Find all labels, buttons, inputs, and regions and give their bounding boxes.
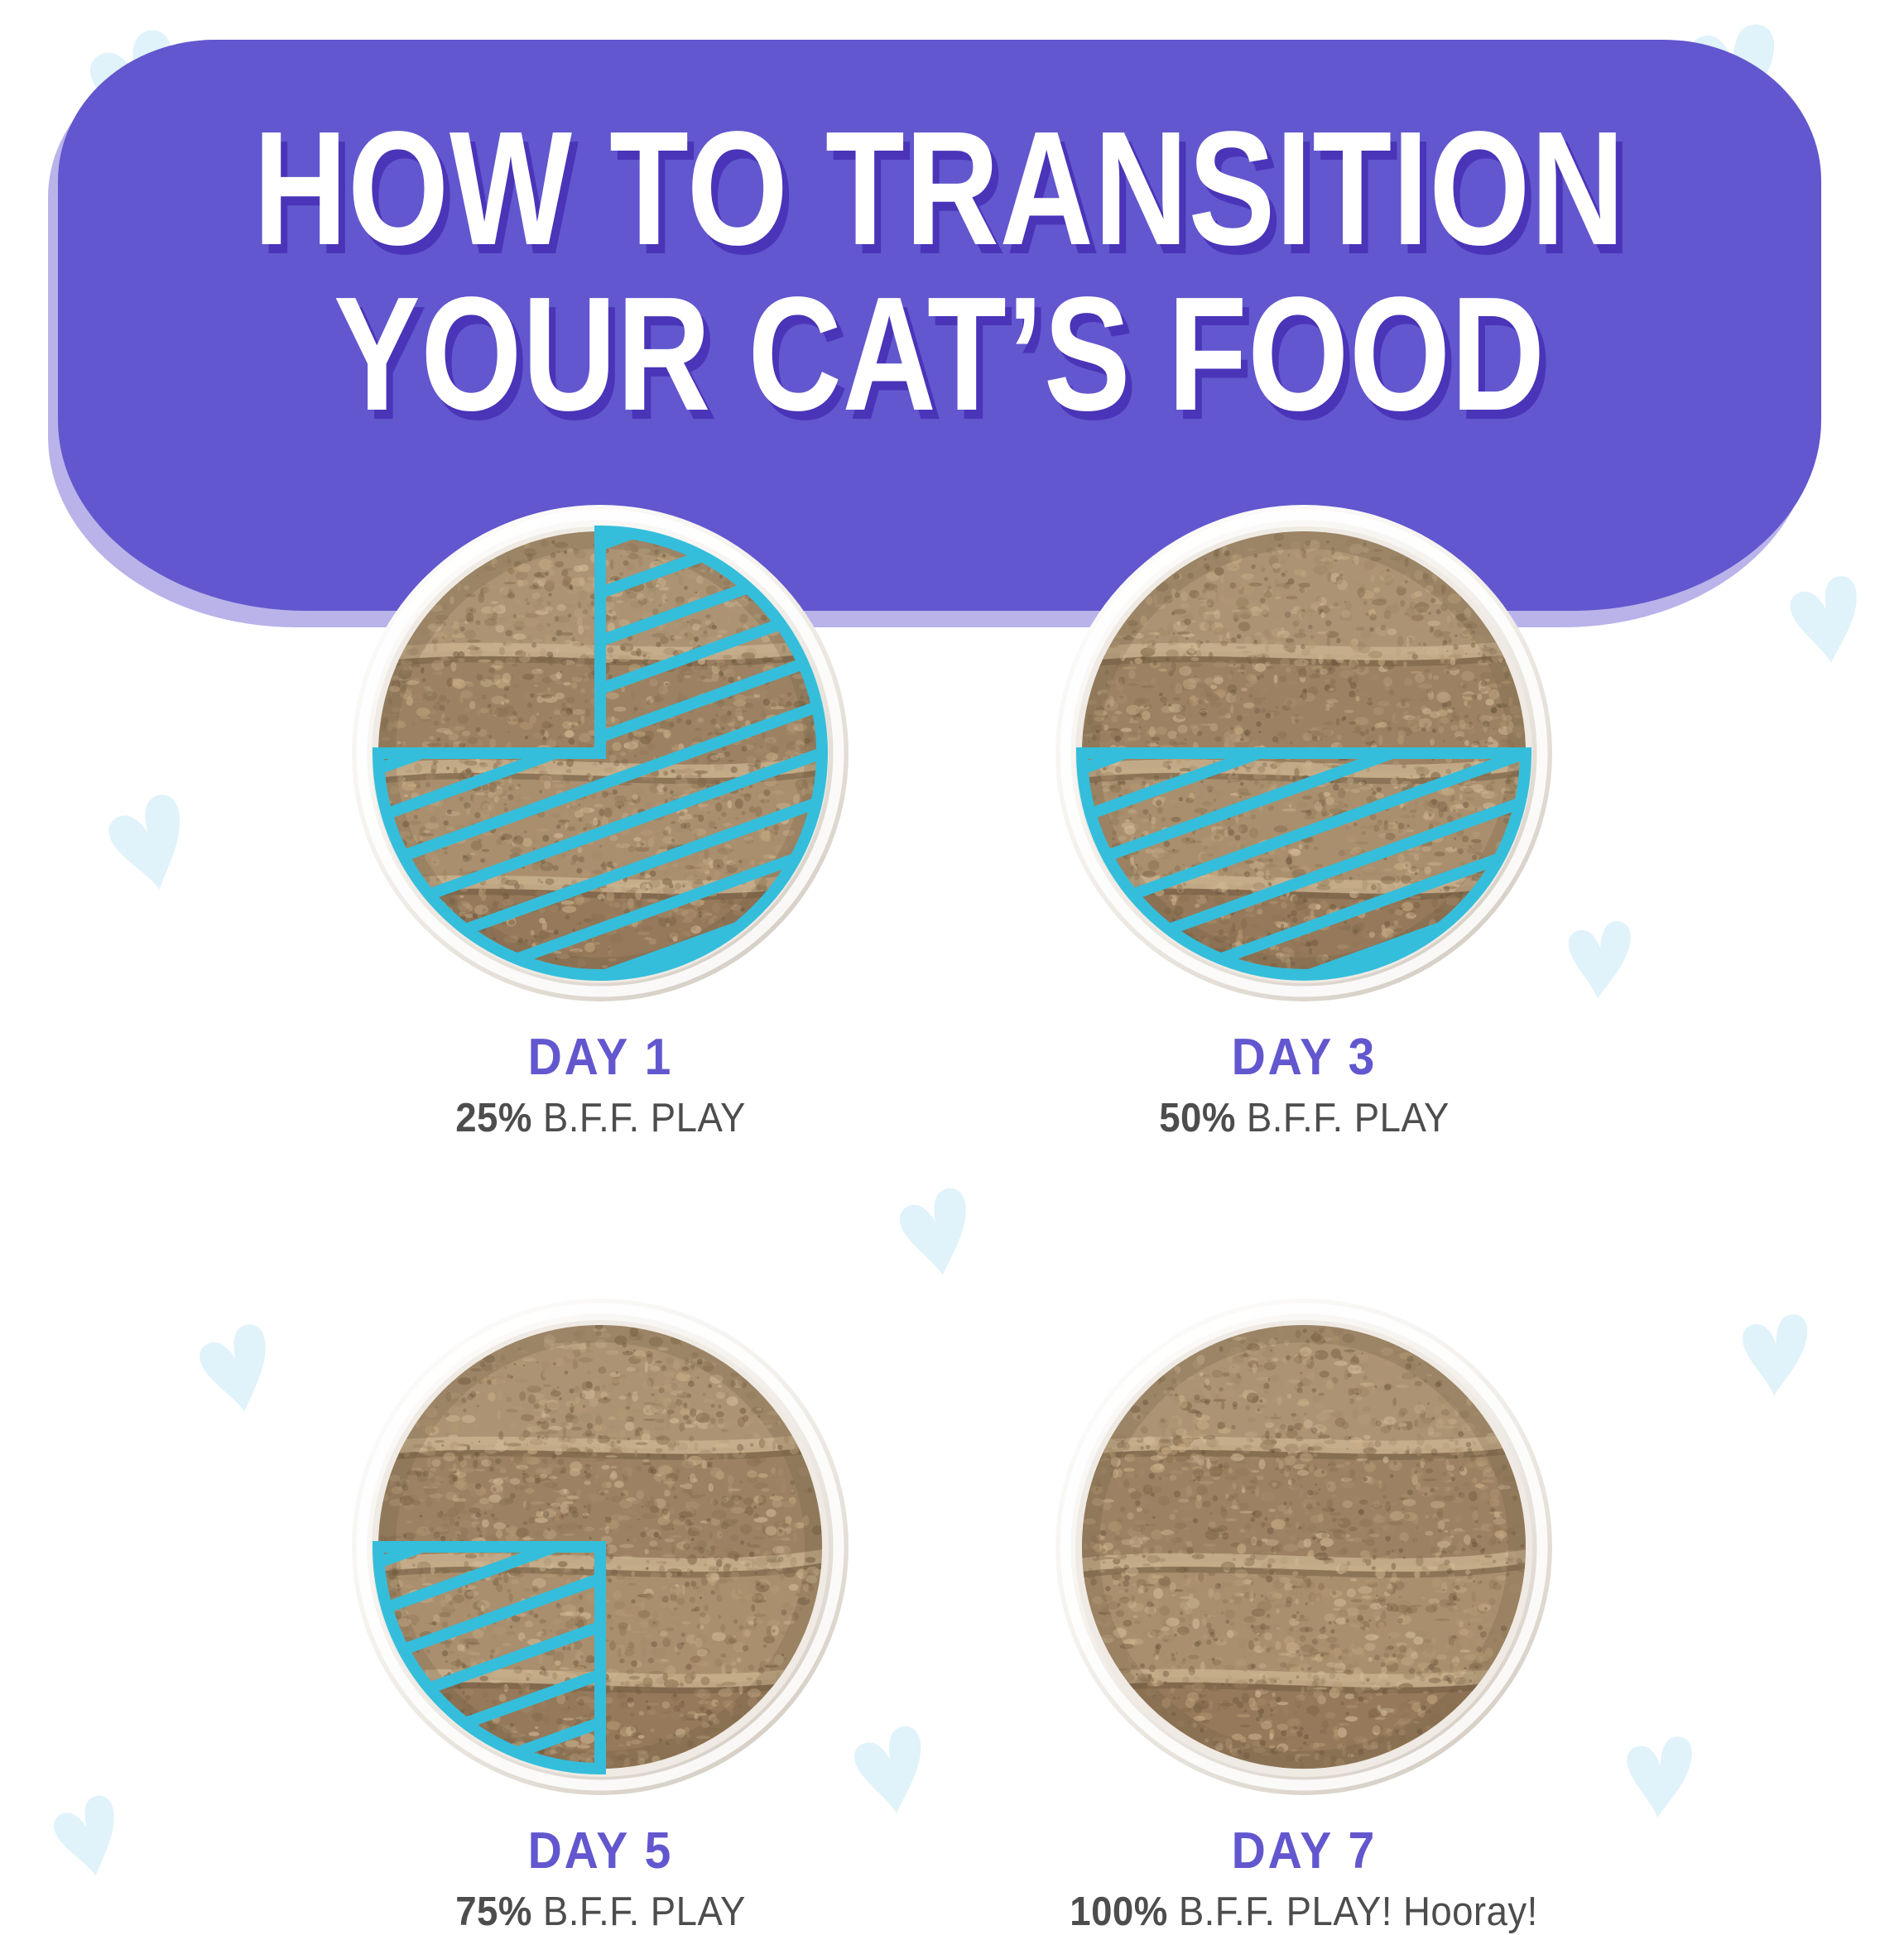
bowl-with-overlay bbox=[344, 497, 857, 1010]
percent-value: 100% bbox=[1070, 1889, 1167, 1934]
bowl-with-overlay bbox=[1047, 497, 1560, 1010]
product-text: B.F.F. PLAY bbox=[531, 1096, 745, 1140]
percent-value: 75% bbox=[455, 1889, 532, 1934]
hatch-overlay bbox=[344, 1290, 857, 1803]
product-text: B.F.F. PLAY bbox=[531, 1889, 745, 1934]
step-card: DAY 1 25% B.F.F. PLAY bbox=[335, 497, 865, 1141]
percent-value: 50% bbox=[1159, 1096, 1236, 1140]
day-label: DAY 7 bbox=[1231, 1822, 1377, 1880]
step-card: DAY 3 50% B.F.F. PLAY bbox=[1039, 497, 1569, 1141]
day-label: DAY 5 bbox=[527, 1822, 673, 1880]
day-label: DAY 1 bbox=[527, 1028, 673, 1087]
product-text: B.F.F. PLAY bbox=[1235, 1096, 1449, 1140]
day-label: DAY 3 bbox=[1231, 1028, 1377, 1087]
steps-row-bottom: DAY 5 75% B.F.F. PLAY DAY 7 100% B.F.F. … bbox=[0, 1290, 1904, 1935]
steps-row-top: DAY 1 25% B.F.F. PLAY DAY 3 50% B.F.F. P… bbox=[0, 497, 1904, 1141]
percent-line: 75% B.F.F. PLAY bbox=[455, 1889, 746, 1935]
hatch-overlay bbox=[344, 497, 857, 1010]
percent-line: 25% B.F.F. PLAY bbox=[455, 1095, 746, 1141]
title-line-1: HOW TO TRANSITION bbox=[253, 113, 1625, 265]
infographic-canvas: HOW TO TRANSITION YOUR CAT’S FOOD DAY 1 … bbox=[0, 0, 1904, 1904]
step-card: DAY 5 75% B.F.F. PLAY bbox=[335, 1290, 865, 1935]
step-card: DAY 7 100% B.F.F. PLAY! Hooray! bbox=[1039, 1290, 1569, 1935]
bowl-with-overlay bbox=[344, 1290, 857, 1803]
percent-line: 100% B.F.F. PLAY! Hooray! bbox=[1070, 1889, 1537, 1935]
bowl-with-overlay bbox=[1047, 1290, 1560, 1803]
percent-line: 50% B.F.F. PLAY bbox=[1159, 1095, 1450, 1141]
hatch-overlay bbox=[1047, 497, 1560, 1010]
percent-value: 25% bbox=[455, 1096, 532, 1140]
product-text: B.F.F. PLAY! Hooray! bbox=[1168, 1889, 1538, 1934]
hatch-overlay bbox=[1047, 1290, 1560, 1803]
title-line-2: YOUR CAT’S FOOD bbox=[334, 278, 1546, 430]
steps-grid: DAY 1 25% B.F.F. PLAY DAY 3 50% B.F.F. P… bbox=[0, 497, 1904, 1935]
hatch-outline bbox=[378, 531, 822, 975]
